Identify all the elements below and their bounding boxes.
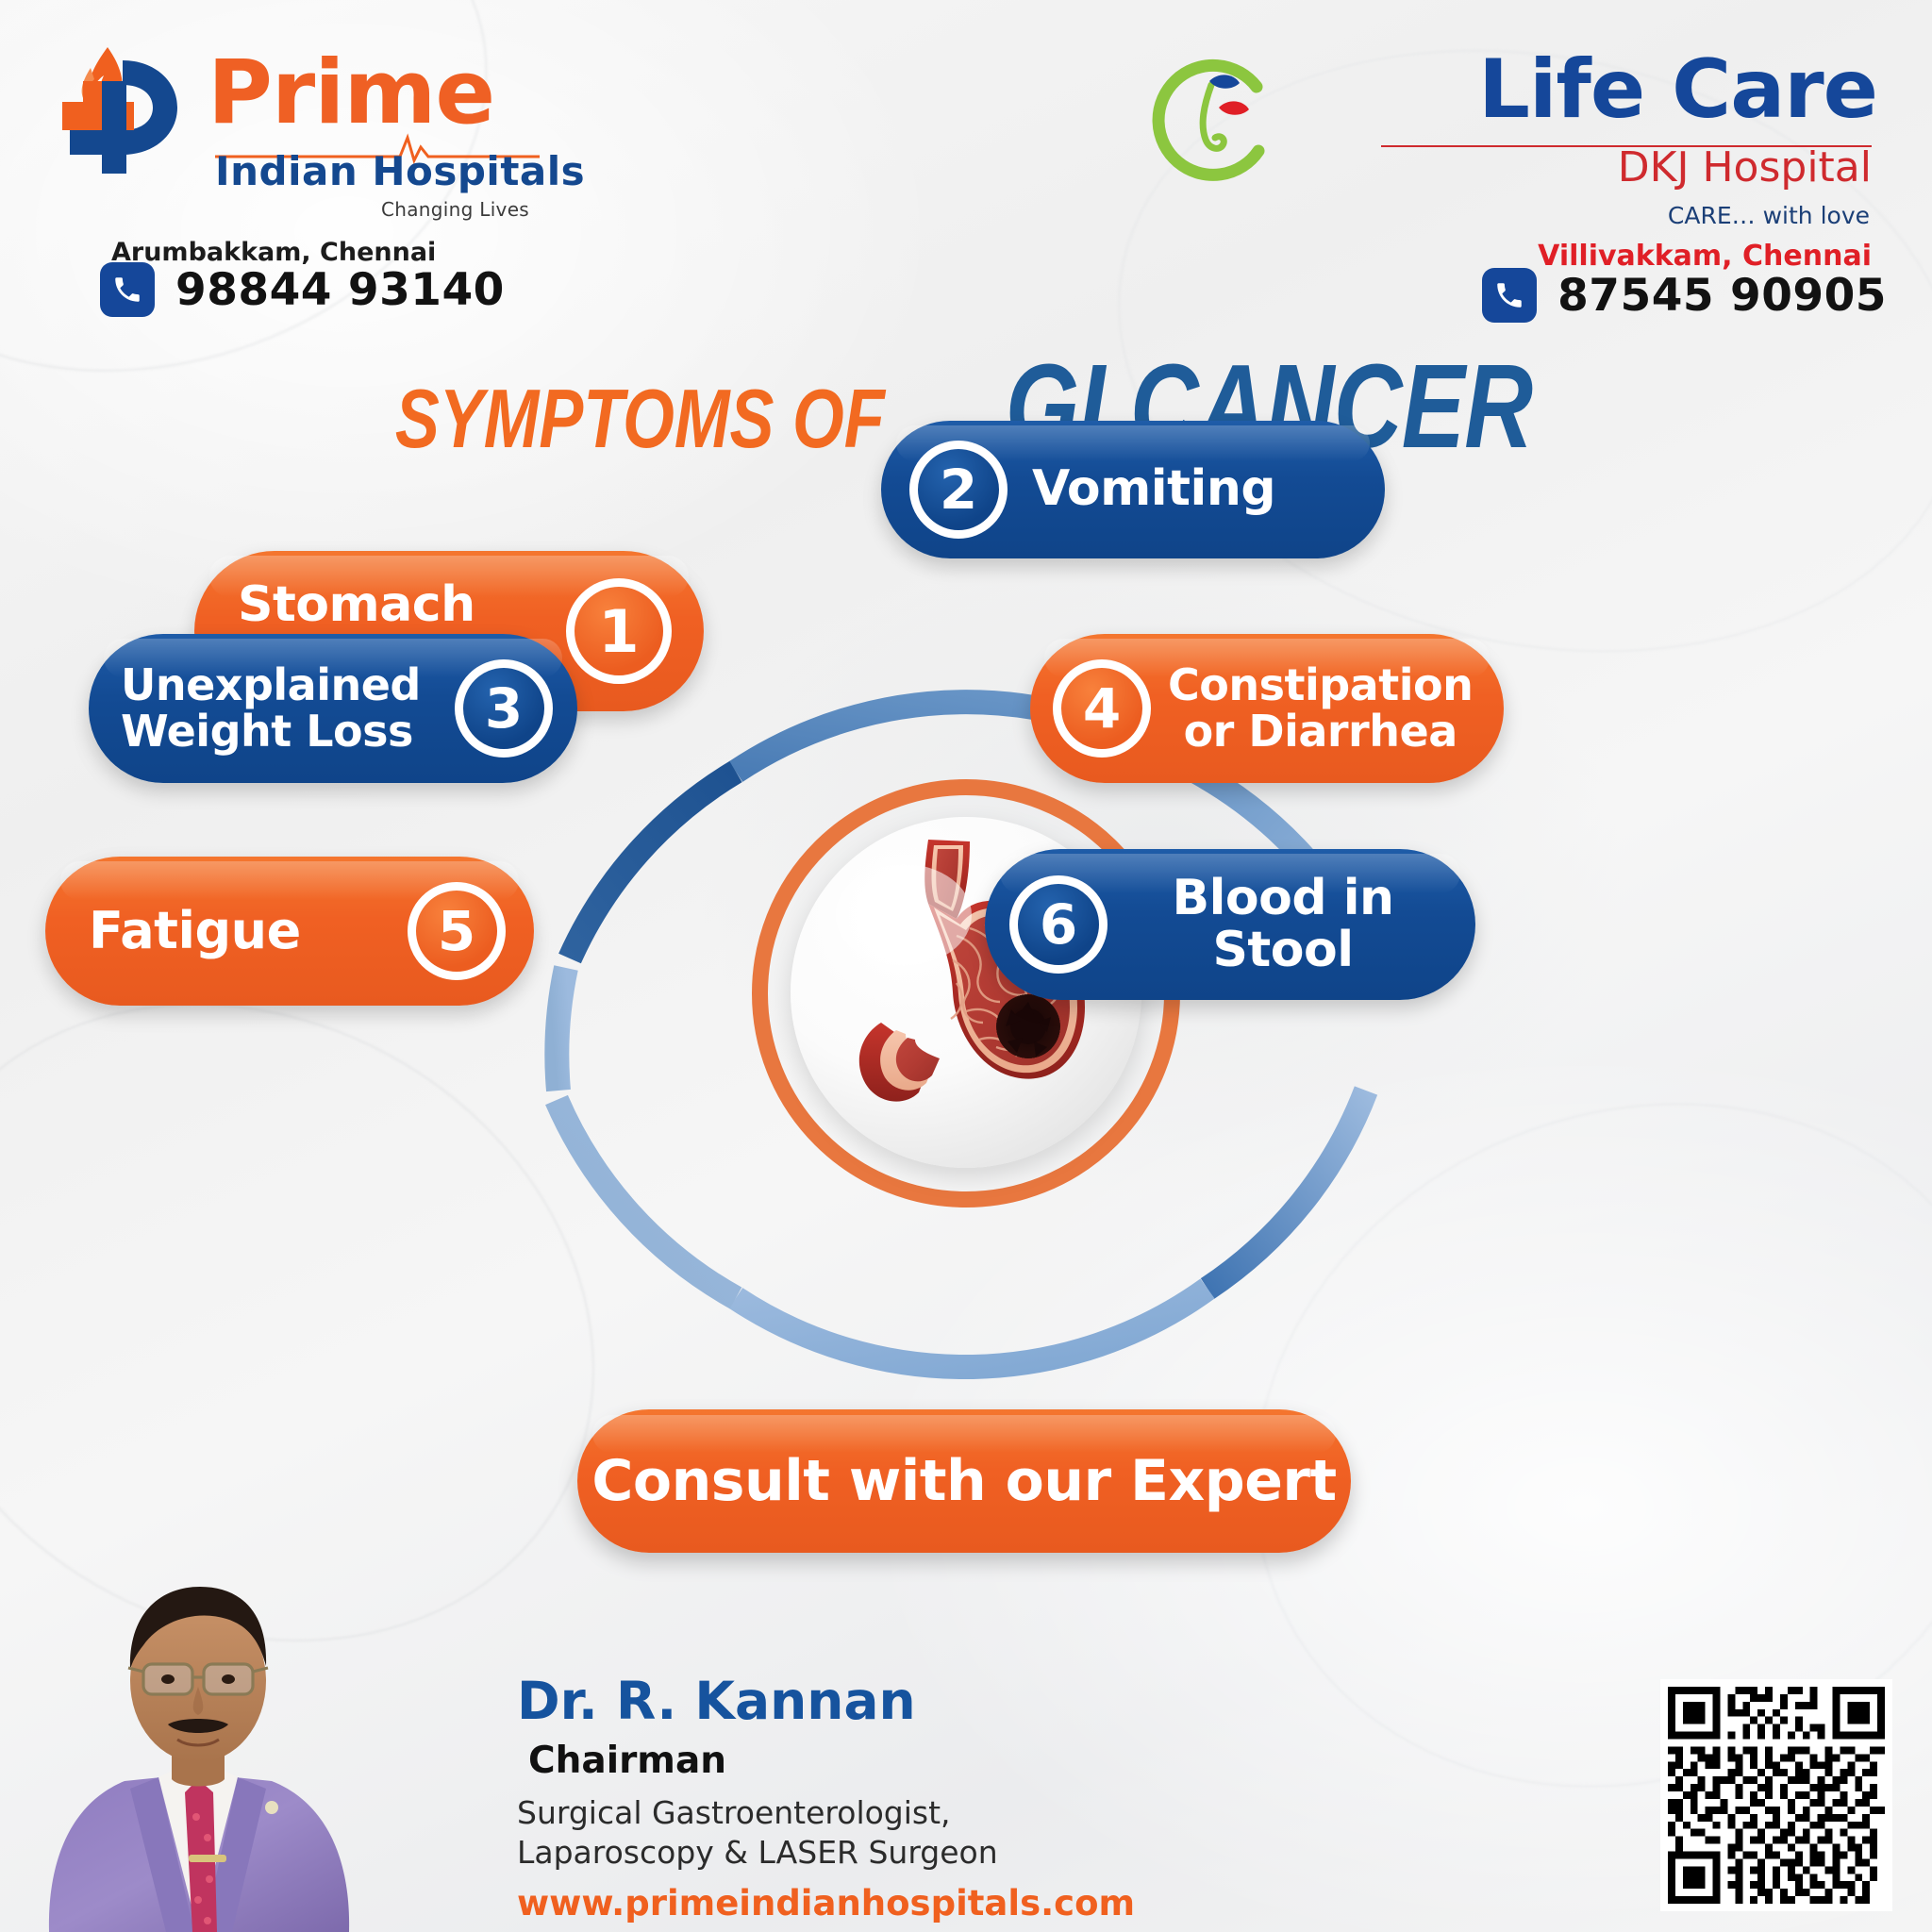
prime-logo-mark <box>49 40 191 181</box>
life-care-brand-text: Life Care <box>1478 49 1877 130</box>
symptom-pill-4[interactable]: 4 Constipation or Diarrhea <box>1030 634 1504 783</box>
life-care-phone-number: 87545 90905 <box>1557 270 1887 322</box>
doctor-portrait <box>0 1555 396 1932</box>
symptom-pill-2[interactable]: 2 Vomiting <box>881 421 1385 558</box>
symptom-label-2: Vomiting <box>1032 463 1347 515</box>
symptom-pill-5[interactable]: Fatigue 5 <box>45 857 534 1006</box>
symptom-label-3: Unexplained Weight Loss <box>121 662 440 755</box>
life-care-tagline: CARE… with love <box>1668 202 1870 229</box>
life-care-phone[interactable]: 87545 90905 <box>1482 268 1887 323</box>
title-part-symptoms-of: SYMPTOMS OF <box>395 371 885 467</box>
prime-phone-number: 98844 93140 <box>175 264 505 316</box>
symptom-number-4: 4 <box>1053 659 1151 758</box>
symptom-number-3: 3 <box>455 659 553 758</box>
infographic-canvas: Prime Indian Hospitals Changing Lives Ar… <box>0 0 1932 1932</box>
symptom-number-5: 5 <box>408 882 506 980</box>
life-care-subtitle: DKJ Hospital <box>1618 147 1872 189</box>
phone-icon <box>100 262 155 317</box>
doctor-specialty-line1: Surgical Gastroenterologist, <box>517 1794 1215 1832</box>
doctor-role: Chairman <box>528 1742 1215 1779</box>
doctor-info: Dr. R. Kannan Chairman Surgical Gastroen… <box>517 1675 1215 1921</box>
symptom-pill-6[interactable]: 6 Blood in Stool <box>985 849 1475 1000</box>
prime-subtitle: Indian Hospitals <box>215 152 585 192</box>
doctor-name: Dr. R. Kannan <box>517 1675 1215 1727</box>
consult-cta-button[interactable]: Consult with our Expert <box>577 1409 1351 1553</box>
consult-cta-label: Consult with our Expert <box>591 1448 1336 1514</box>
symptom-number-2: 2 <box>909 441 1008 539</box>
symptom-number-1: 1 <box>566 578 672 684</box>
symptom-label-6: Blood in Stool <box>1128 873 1438 976</box>
website-link[interactable]: www.primeindianhospitals.com <box>517 1886 1215 1921</box>
qr-code[interactable] <box>1660 1679 1892 1911</box>
prime-brand-text: Prime <box>208 49 494 138</box>
prime-tagline: Changing Lives <box>381 198 529 221</box>
life-care-logo-mark <box>1145 53 1277 185</box>
phone-icon <box>1482 268 1537 323</box>
prime-hospitals-logo: Prime Indian Hospitals Changing Lives Ar… <box>49 26 634 300</box>
symptom-pill-3[interactable]: Unexplained Weight Loss 3 <box>89 634 577 783</box>
symptom-label-5: Fatigue <box>89 904 387 958</box>
prime-phone[interactable]: 98844 93140 <box>100 262 505 317</box>
symptom-number-6: 6 <box>1009 875 1108 974</box>
life-care-logo: Life Care DKJ Hospital CARE… with love V… <box>1070 25 1900 298</box>
doctor-specialty-line2: Laparoscopy & LASER Surgeon <box>517 1834 1215 1872</box>
symptom-label-4: Constipation or Diarrhea <box>1168 662 1473 755</box>
